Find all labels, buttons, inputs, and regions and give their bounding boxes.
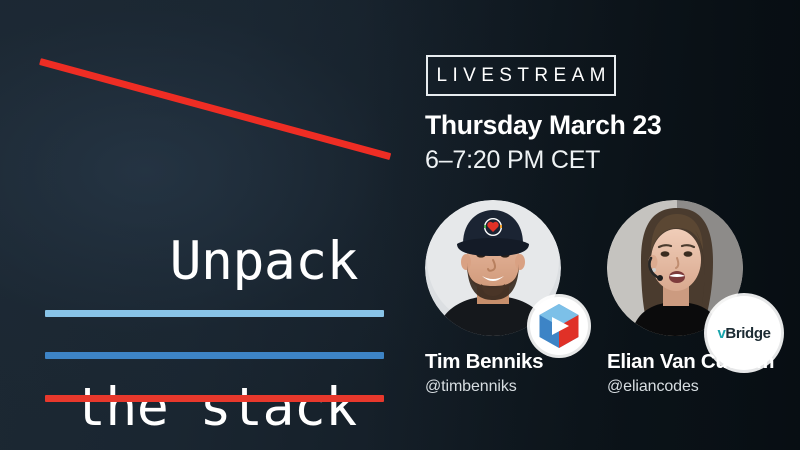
rule-light-blue (45, 310, 384, 317)
livestream-badge-label: LIVESTREAM (431, 65, 611, 87)
livestream-badge: LIVESTREAM (426, 55, 616, 96)
headline-line-1: Unpack (170, 231, 358, 292)
page-title: Unpack the stack (44, 152, 404, 450)
speaker-name: Tim Benniks (425, 350, 561, 374)
speaker-card-elian-van-cutsem: vBridge Elian Van Cutsem @eliancodes (607, 200, 774, 396)
speaker-card-tim-benniks: Tim Benniks @timbenniks (425, 200, 561, 396)
hexagon-play-logo (530, 297, 588, 355)
rule-red (45, 395, 384, 402)
hexagon-play-logo-icon (537, 303, 581, 349)
rule-blue (45, 352, 384, 359)
event-date: Thursday March 23 (425, 110, 661, 141)
livestream-promo-poster: Unpack the stack LIVESTREAM Thursday Mar… (0, 0, 800, 450)
vbridge-logo: vBridge (707, 296, 781, 370)
speaker-handle: @timbenniks (425, 378, 561, 396)
decorative-rules (45, 310, 384, 402)
vbridge-logo-rest: Bridge (725, 325, 770, 342)
vbridge-logo-text: vBridge (717, 325, 770, 342)
event-time: 6–7:20 PM CET (425, 146, 600, 175)
speaker-handle: @eliancodes (607, 378, 774, 396)
